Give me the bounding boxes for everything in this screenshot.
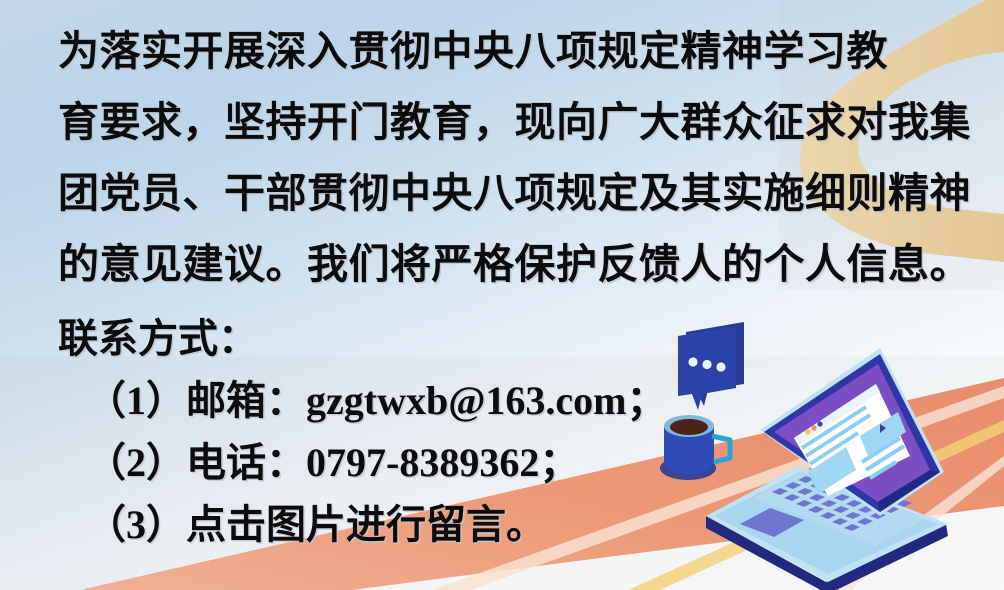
contact-label-phone: 电话： xyxy=(186,440,306,485)
contact-item-phone: （2）电话：0797-8389362； xyxy=(0,432,1004,494)
contact-marker-3: （3） xyxy=(86,502,186,547)
contact-label-click-image: 点击图片进行留言。 xyxy=(186,502,546,547)
body-line-4: 的意见建议。我们将严格保护反馈人的个人信息。 xyxy=(0,229,1004,300)
body-line-2: 育要求，坚持开门教育，现向广大群众征求对我集 xyxy=(0,87,1004,158)
contact-item-email: （1）邮箱：gzgtwxb@163.com； xyxy=(0,370,1004,432)
contact-value-phone[interactable]: 0797-8389362； xyxy=(306,440,579,485)
contact-item-click-image: （3）点击图片进行留言。 xyxy=(0,494,1004,556)
contact-marker-1: （1） xyxy=(86,378,186,423)
body-line-3: 团党员、干部贯彻中央八项规定及其实施细则精神 xyxy=(0,158,1004,229)
contact-heading: 联系方式： xyxy=(0,300,1004,370)
body-line-1: 为落实开展深入贯彻中央八项规定精神学习教 xyxy=(0,0,1004,87)
contact-value-email[interactable]: gzgtwxb@163.com； xyxy=(306,378,667,423)
contact-marker-2: （2） xyxy=(86,440,186,485)
text-content: 为落实开展深入贯彻中央八项规定精神学习教 育要求，坚持开门教育，现向广大群众征求… xyxy=(0,0,1004,556)
poster-root: 为落实开展深入贯彻中央八项规定精神学习教 育要求，坚持开门教育，现向广大群众征求… xyxy=(0,0,1004,590)
contact-label-email: 邮箱： xyxy=(186,378,306,423)
